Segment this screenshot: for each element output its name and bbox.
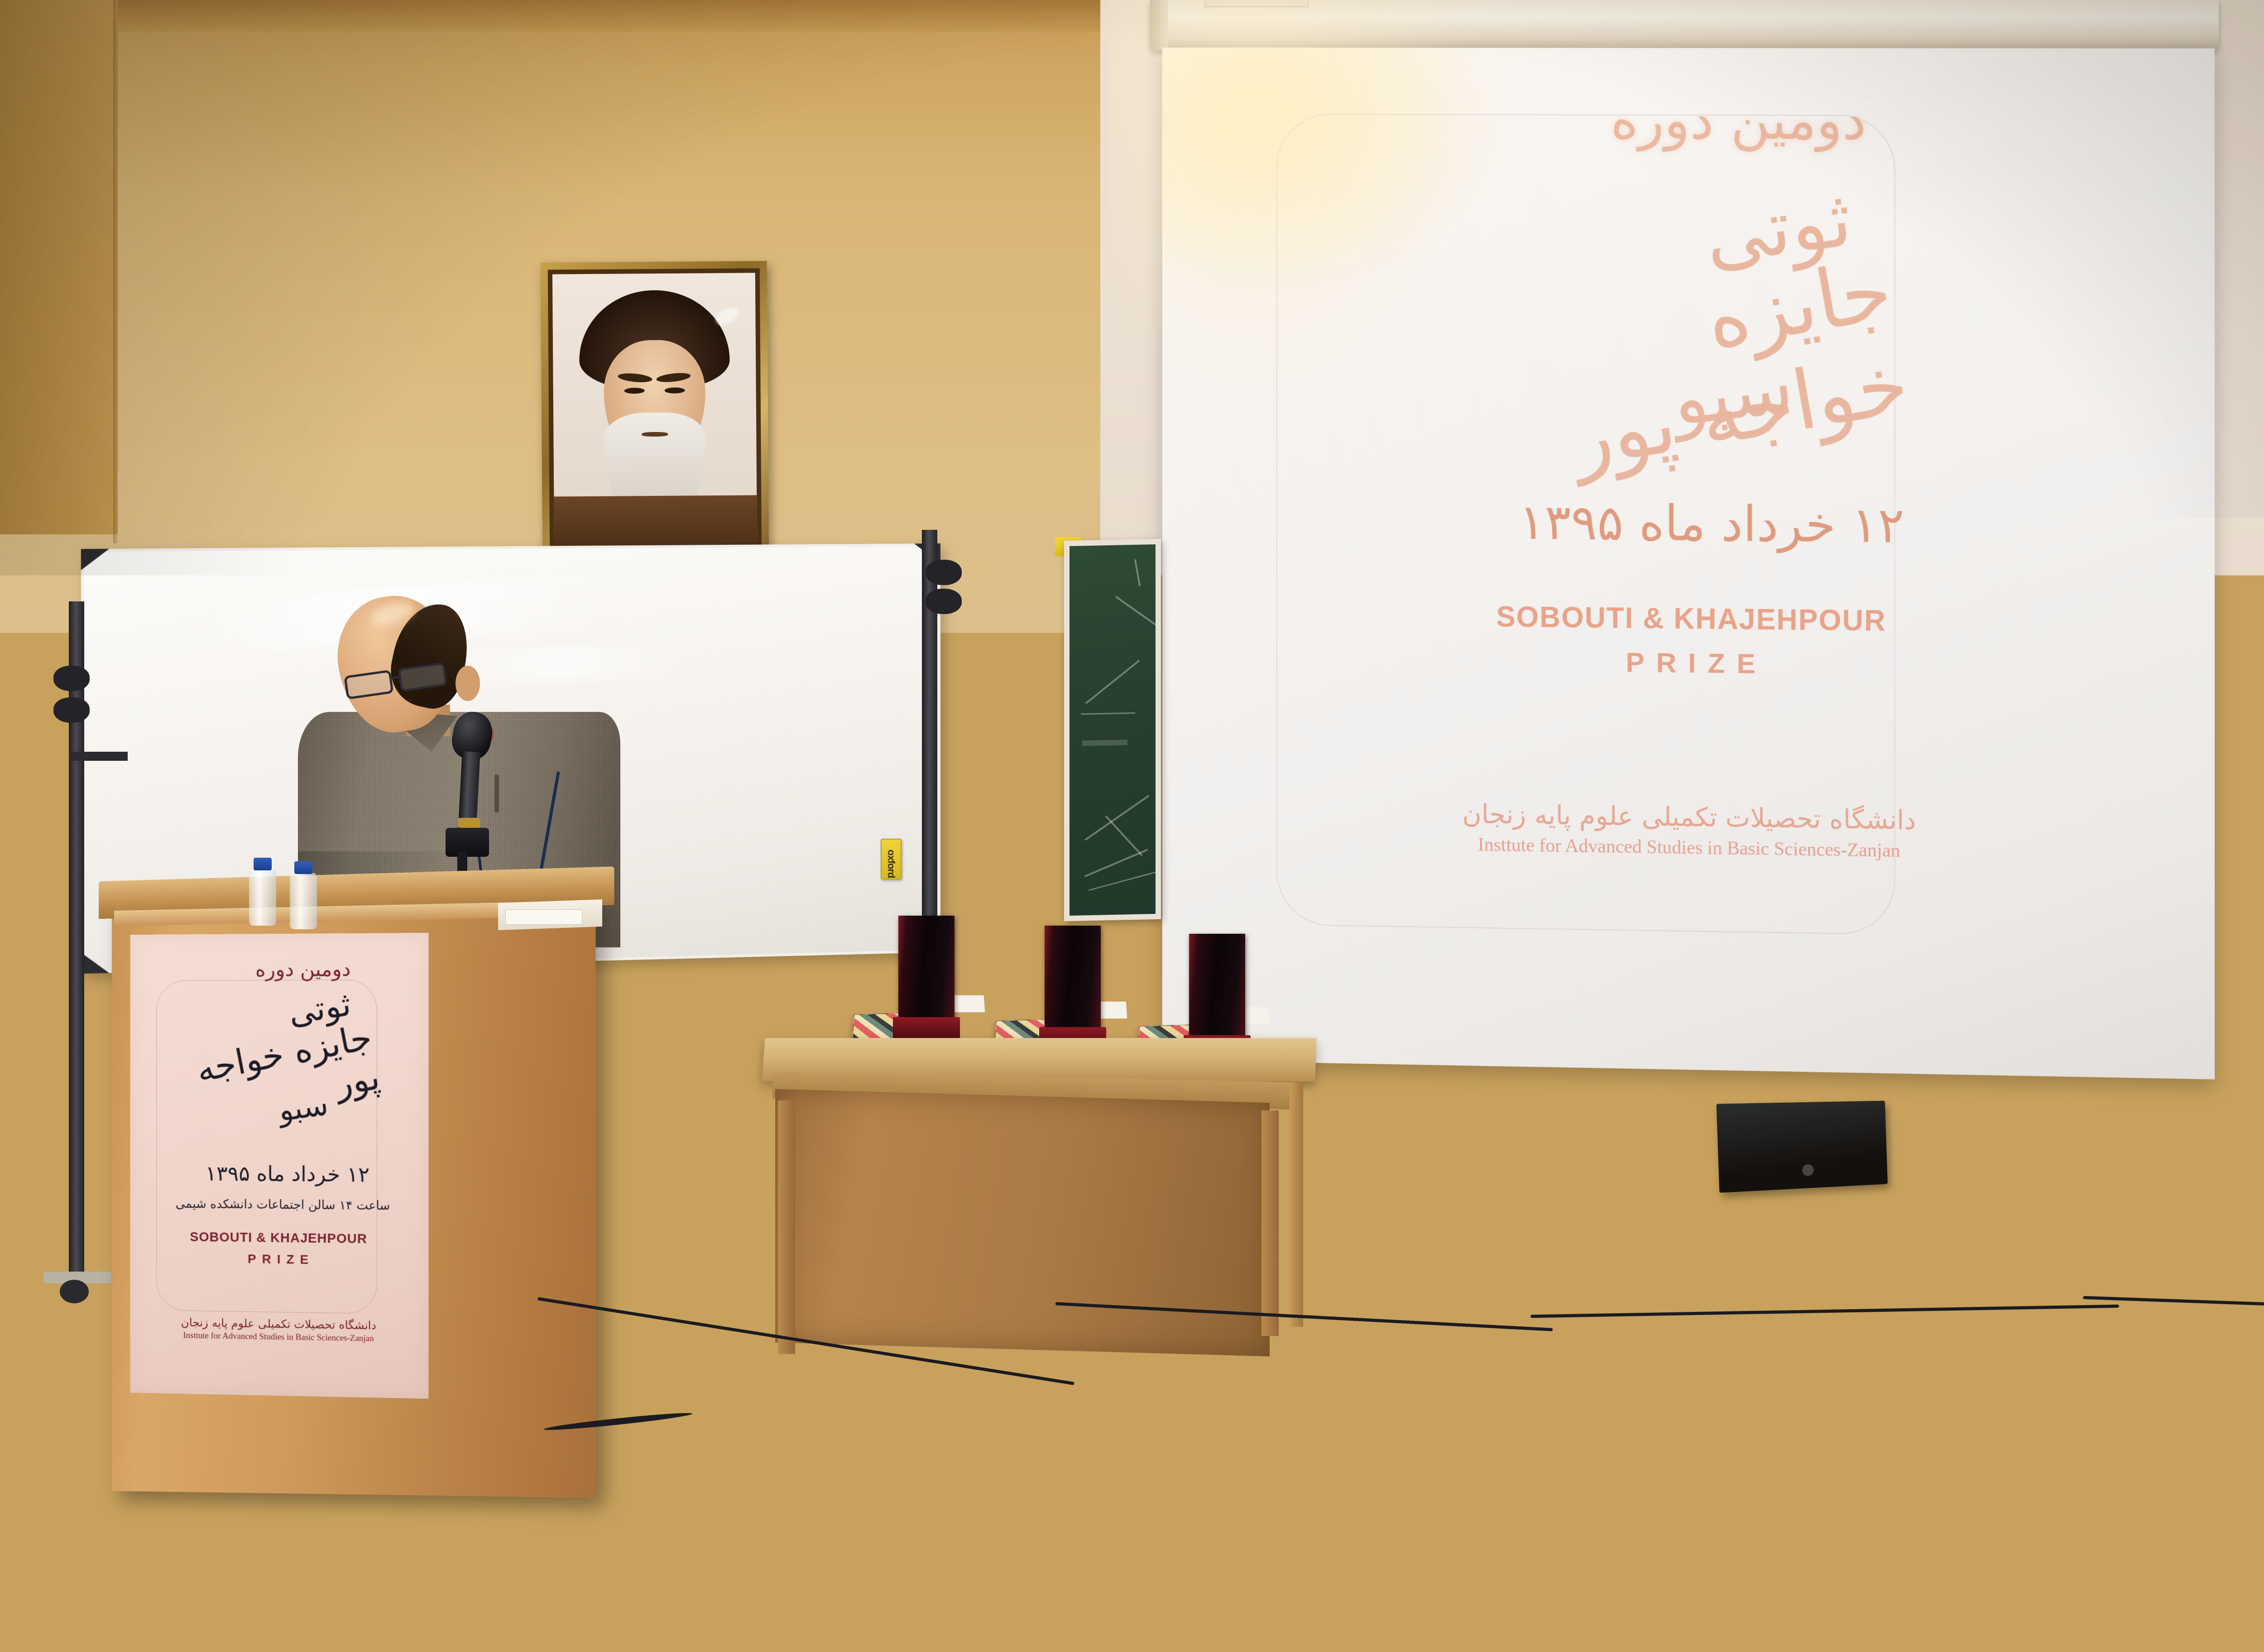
lecture-hall-photo: دومین دوره ثوتی جایزه خواجه پور سبو ۱۲ خ… [0,0,2264,1652]
slide-institute-en: Insttute for Advanced Studies in Basic S… [1478,834,1900,862]
projection-screen: دومین دوره ثوتی جایزه خواجه پور سبو ۱۲ خ… [1162,48,2215,1080]
speaker-ear [456,666,480,701]
roller-end-cap [1150,0,1168,51]
roller-bracket [1204,0,1309,7]
award-table-leg [1290,1082,1303,1327]
banner-calligraphic-logo: ثوتی جایزه خواجه پور سبو [161,986,396,1160]
slide-institute-fa: دانشگاه تحصیلات تکمیلی علوم پایه زنجان [1463,798,1916,836]
trophy-plate [1189,934,1245,1039]
bottle-cap [294,861,312,874]
whiteboard-adjust-knob[interactable] [926,560,962,585]
slide-calligraphic-logo: ثوتی جایزه خواجه پور سبو [1521,169,1929,489]
floor-cable-vertical [568,1340,572,1426]
banner-logo-word-2: جایزه خواجه پور [156,1017,383,1137]
whiteboard-adjust-knob[interactable] [53,697,90,723]
whiteboard-corner-clip [81,952,109,974]
green-chalkboard[interactable] [1064,539,1161,921]
slide-logo-word-3: سبو [1668,344,1797,442]
whiteboard-adjust-knob[interactable] [53,666,90,691]
whiteboard-caster-wheel [60,1280,89,1303]
slide-prize-name: SOBOUTI & KHAJEHPOUR [1496,600,1886,638]
slide-edition-text: دومین دوره [1611,89,1866,152]
bottle-cap [254,858,272,870]
loudspeaker-cone [1802,1164,1814,1176]
eraser-brand-label: oxford [885,850,897,869]
whiteboard-support-arm [69,752,128,761]
wall-mounted-loudspeaker [1716,1101,1887,1193]
award-table-leg [778,1100,795,1354]
water-bottle[interactable] [249,869,276,926]
portrait-image [548,268,762,557]
banner-institute-en: Insttute for Advanced Studies in Basic S… [183,1331,374,1344]
ceiling [0,0,1159,32]
banner-institute-fa: دانشگاه تحصیلات تکمیلی علوم پایه زنجان [181,1316,376,1332]
award-table-leg [1262,1110,1279,1336]
speaker-wall-bracket [1789,1187,1866,1261]
whiteboard-corner-clip [81,549,109,570]
podium-sticker-label [505,909,582,925]
speaker-pen-in-pocket [494,774,499,812]
projection-screen-roller[interactable] [1150,0,2219,51]
award-trophy [1045,926,1101,1057]
whiteboard-eraser[interactable]: oxford [881,839,902,879]
whiteboard-adjust-knob[interactable] [926,589,962,614]
microphone-gold-ring [458,818,480,828]
banner-logo-word-3: سبو [276,1087,330,1128]
portrait-mouth [642,432,668,437]
framed-portrait [541,261,769,564]
slide-date: ۱۲ خرداد ماه ۱۳۹۵ [1519,494,1904,554]
trophy-plate [1045,926,1101,1031]
banner-edition-text: دومین دوره [255,958,351,981]
wall-corner-shadow [113,0,119,543]
trophy-plate [898,916,955,1021]
water-bottle[interactable] [290,873,317,929]
wall-power-outlet-strip[interactable] [2205,1286,2264,1328]
left-wall-panel [0,0,118,534]
speaker-bracket-label [1811,1231,1837,1244]
podium-banner-poster: دومین دوره ثوتی جایزه خواجه پور سبو ۱۲ خ… [130,933,428,1399]
award-trophy [898,916,955,1047]
portrait-robe [554,495,757,552]
slide-prize-word: PRIZE [1626,647,1767,681]
award-table-body [775,1089,1270,1357]
microphone-mount [446,828,489,857]
